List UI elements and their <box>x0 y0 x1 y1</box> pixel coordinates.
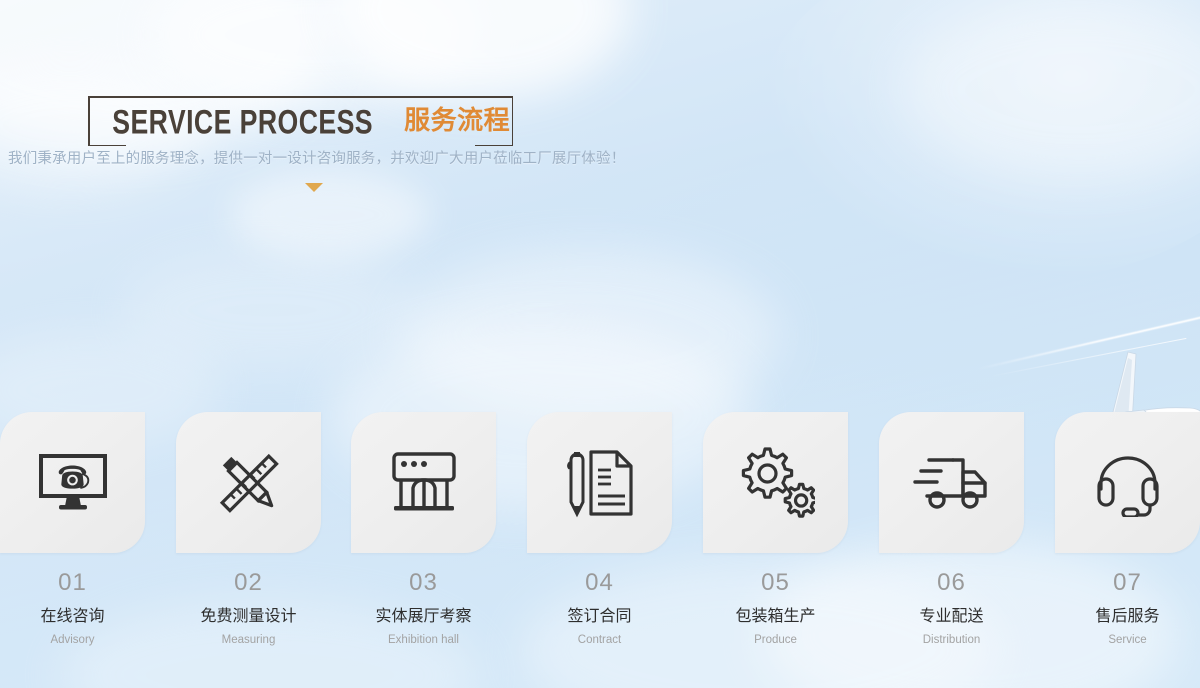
storefront-icon <box>388 450 460 516</box>
headset-icon <box>1093 449 1163 517</box>
step-label-en: Produce <box>703 635 848 647</box>
step-label-en: Contract <box>527 635 672 647</box>
cloud-shape <box>230 170 430 260</box>
list-item[interactable]: 01 在线咨询 Advisory <box>0 412 145 688</box>
delivery-truck-icon <box>913 454 991 512</box>
step-number: 06 <box>879 571 1024 595</box>
gears-icon <box>737 447 815 519</box>
step-label-cn: 免费测量设计 <box>176 608 321 624</box>
step-card[interactable] <box>0 412 145 553</box>
step-card[interactable] <box>351 412 496 553</box>
step-label-en: Service <box>1055 635 1200 647</box>
service-process-section: SERVICE PROCESS 服务流程 我们秉承用户至上的服务理念，提供一对一… <box>0 0 1200 688</box>
step-card[interactable] <box>879 412 1024 553</box>
step-card[interactable] <box>176 412 321 553</box>
step-number: 05 <box>703 571 848 595</box>
step-label-cn: 在线咨询 <box>0 608 145 624</box>
step-label-cn: 售后服务 <box>1055 608 1200 624</box>
step-label-cn: 签订合同 <box>527 608 672 624</box>
step-card[interactable] <box>703 412 848 553</box>
page-title-english: SERVICE PROCESS <box>112 104 373 139</box>
ruler-pencil-icon <box>214 448 284 518</box>
step-label-cn: 包装箱生产 <box>703 608 848 624</box>
step-label-en: Advisory <box>0 635 145 647</box>
step-card[interactable] <box>1055 412 1200 553</box>
chevron-down-triangle-icon <box>305 183 323 192</box>
service-steps-list: 01 在线咨询 Advisory <box>0 412 1200 688</box>
list-item[interactable]: 04 签订合同 Contract <box>527 412 672 688</box>
step-label-en: Exhibition hall <box>351 635 496 647</box>
section-heading: SERVICE PROCESS 服务流程 <box>88 96 513 146</box>
pen-document-icon <box>565 448 635 518</box>
list-item[interactable]: 07 售后服务 Service <box>1055 412 1200 688</box>
step-card[interactable] <box>527 412 672 553</box>
step-number: 02 <box>176 571 321 595</box>
step-number: 03 <box>351 571 496 595</box>
step-number: 01 <box>0 571 145 595</box>
step-number: 07 <box>1055 571 1200 595</box>
step-label-en: Distribution <box>879 635 1024 647</box>
step-number: 04 <box>527 571 672 595</box>
list-item[interactable]: 06 专业配送 Distribution <box>879 412 1024 688</box>
section-subtitle: 我们秉承用户至上的服务理念，提供一对一设计咨询服务，并欢迎广大用户莅临工厂展厅体… <box>8 147 625 168</box>
step-label-cn: 实体展厅考察 <box>351 608 496 624</box>
list-item[interactable]: 03 实体展厅考察 Exhibition hall <box>351 412 496 688</box>
page-title-chinese: 服务流程 <box>404 108 510 134</box>
step-label-cn: 专业配送 <box>879 608 1024 624</box>
list-item[interactable]: 05 包装箱生产 Produce <box>703 412 848 688</box>
monitor-phone-icon <box>37 452 109 514</box>
step-label-en: Measuring <box>176 635 321 647</box>
list-item[interactable]: 02 免费测量设计 Measuring <box>176 412 321 688</box>
